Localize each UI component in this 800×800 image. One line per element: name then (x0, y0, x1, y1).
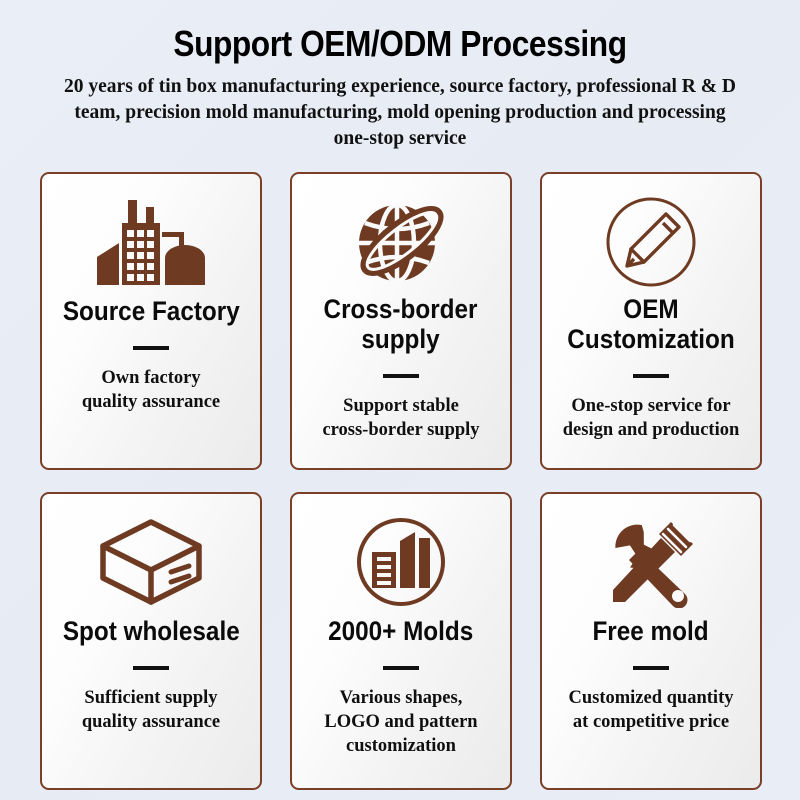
card-description: Various shapes, LOGO and pattern customi… (318, 686, 483, 758)
card-title: 2000+ Molds (323, 616, 479, 646)
promo-banner: Support OEM/ODM Processing 20 years of t… (0, 0, 800, 800)
feature-card-cross-border-supply[interactable]: Cross-border supply Support stable cross… (290, 172, 512, 470)
feature-card-molds[interactable]: 2000+ Molds Various shapes, LOGO and pat… (290, 492, 512, 790)
page-subtitle: 20 years of tin box manufacturing experi… (64, 74, 736, 152)
card-title: OEM Customization (562, 294, 740, 354)
feature-card-source-factory[interactable]: Source Factory Own factory quality assur… (40, 172, 262, 470)
card-description: Own factory quality assurance (76, 366, 226, 414)
box-3d-icon (42, 510, 260, 614)
buildings-circle-icon (292, 510, 510, 614)
card-title: Spot wholesale (57, 616, 245, 646)
card-title: Cross-border supply (319, 294, 484, 354)
pencil-circle-icon (542, 190, 760, 294)
card-description: One-stop service for design and producti… (557, 394, 746, 442)
card-title: Source Factory (57, 296, 245, 326)
card-title: Free mold (588, 616, 715, 646)
card-description: Support stable cross-border supply (316, 394, 485, 442)
feature-card-free-mold[interactable]: Free mold Customized quantity at competi… (540, 492, 762, 790)
header: Support OEM/ODM Processing 20 years of t… (0, 0, 800, 152)
divider (133, 666, 169, 670)
divider (633, 374, 669, 378)
feature-card-oem-customization[interactable]: OEM Customization One-stop service for d… (540, 172, 762, 470)
globe-orbit-icon (292, 190, 510, 294)
divider (383, 374, 419, 378)
feature-card-grid: Source Factory Own factory quality assur… (40, 172, 762, 790)
card-description: Sufficient supply quality assurance (76, 686, 226, 734)
factory-icon (42, 190, 260, 294)
feature-card-spot-wholesale[interactable]: Spot wholesale Sufficient supply quality… (40, 492, 262, 790)
card-description: Customized quantity at competitive price (563, 686, 740, 734)
divider (383, 666, 419, 670)
wrench-screwdriver-icon (542, 510, 760, 614)
divider (133, 346, 169, 350)
divider (633, 666, 669, 670)
page-title: Support OEM/ODM Processing (48, 22, 752, 66)
